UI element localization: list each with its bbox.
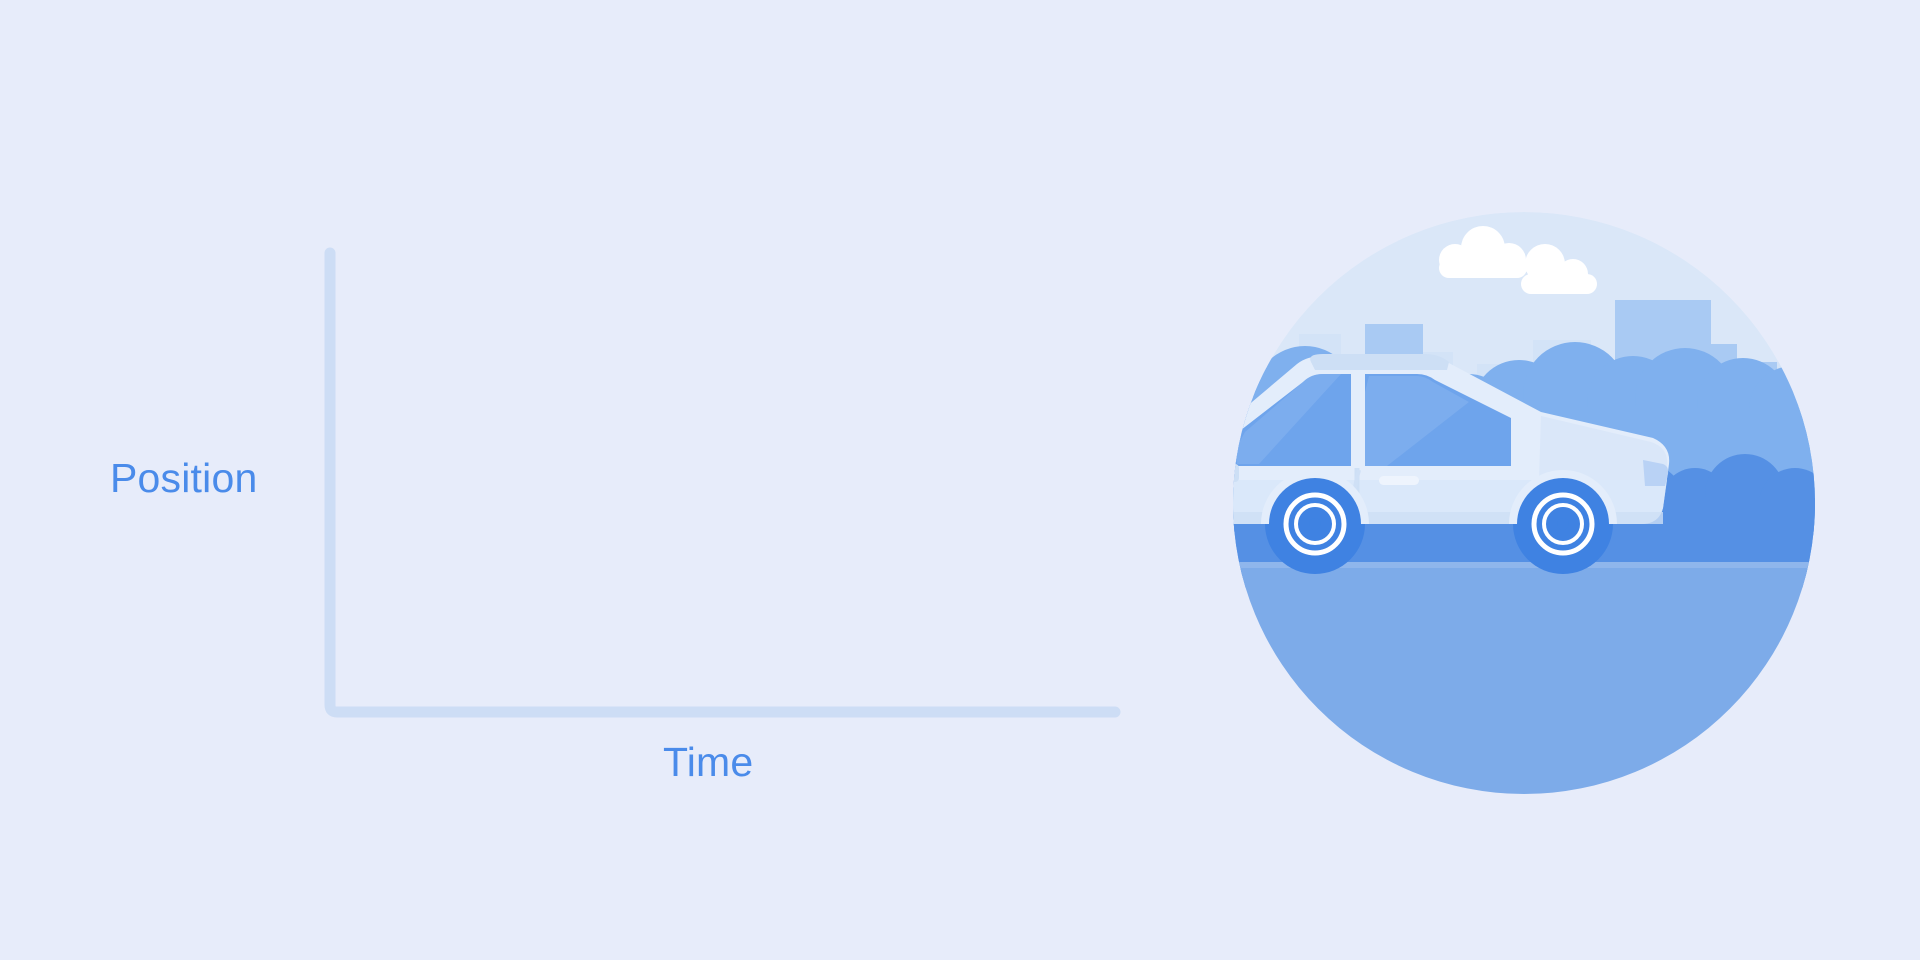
y-axis-label: Position xyxy=(110,458,257,499)
x-axis-label: Time xyxy=(663,742,753,783)
car-scene-svg xyxy=(1233,212,1815,794)
car-b-pillar xyxy=(1351,372,1365,468)
car-scene-illustration xyxy=(1233,212,1815,794)
car-door-handle xyxy=(1379,476,1419,485)
car-taillight xyxy=(1233,464,1239,482)
scene-root: Position Time xyxy=(0,0,1920,960)
axis-lines xyxy=(330,253,1115,712)
position-time-graph: Position Time xyxy=(0,0,1200,960)
car-roof-shade xyxy=(1310,354,1449,370)
